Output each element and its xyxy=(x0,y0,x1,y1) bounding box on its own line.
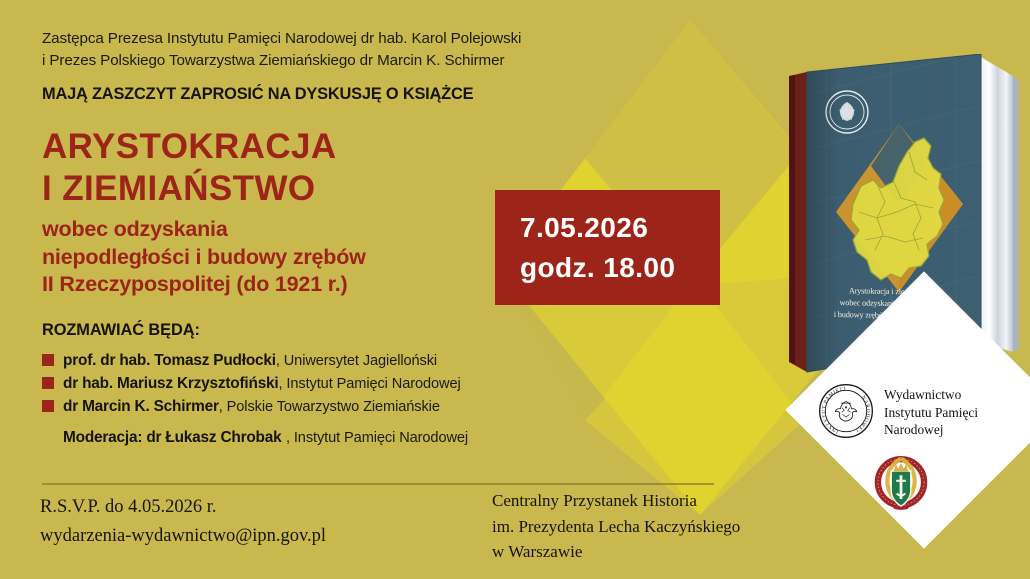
speaker-affiliation: , Instytut Pamięci Narodowej xyxy=(279,376,461,392)
svg-text:NARODOWEJ: NARODOWEJ xyxy=(854,395,871,433)
title-line-1: ARYSTOKRACJA xyxy=(42,126,682,168)
publisher-line-1: Wydawnictwo xyxy=(884,386,978,404)
venue-line-1: Centralny Przystanek Historia xyxy=(492,488,740,514)
eagle-emblem-icon xyxy=(835,401,856,421)
speakers-list: prof. dr hab. Tomasz Pudłocki , Uniwersy… xyxy=(42,352,682,447)
publisher-line-2: Instytutu Pamięci xyxy=(884,404,978,422)
moderator-row: Moderacja: dr Łukasz Chrobak , Instytut … xyxy=(63,429,682,447)
poster-canvas: Zastępca Prezesa Instytutu Pamięci Narod… xyxy=(0,0,1030,579)
date-time-badge: 7.05.2026 godz. 18.00 xyxy=(495,190,720,305)
publisher-logo-row: INSTYTUT PAMIĘCI NARODOWEJ Wydawnictwo I… xyxy=(818,383,978,439)
event-date: 7.05.2026 xyxy=(520,208,720,248)
rsvp-block: R.S.V.P. do 4.05.2026 r. wydarzenia-wyda… xyxy=(40,493,326,550)
rsvp-email[interactable]: wydarzenia-wydawnictwo@ipn.gov.pl xyxy=(40,522,326,551)
publisher-name: Wydawnictwo Instytutu Pamięci Narodowej xyxy=(884,383,978,439)
event-time: godz. 18.00 xyxy=(520,248,720,288)
ipn-seal-icon: INSTYTUT PAMIĘCI NARODOWEJ xyxy=(818,383,874,439)
footer-divider xyxy=(42,483,714,485)
bullet-square-icon xyxy=(42,354,54,366)
invitation-line: MAJĄ ZASZCZYT ZAPROSIĆ NA DYSKUSJĘ O KSI… xyxy=(42,85,682,104)
book-pages-edge xyxy=(1013,76,1019,352)
intro-line-2: i Prezes Polskiego Towarzystwa Ziemiańsk… xyxy=(42,50,682,72)
book-pages xyxy=(979,56,1013,352)
speaker-name: dr hab. Mariusz Krzysztofiński xyxy=(63,375,279,393)
speaker-affiliation: , Uniwersytet Jagielloński xyxy=(276,353,437,369)
rsvp-deadline: R.S.V.P. do 4.05.2026 r. xyxy=(40,493,326,522)
bullet-square-icon xyxy=(42,377,54,389)
speaker-affiliation: , Polskie Towarzystwo Ziemiańskie xyxy=(219,399,440,415)
polskie-towarzystwo-ziemianskie-logo-icon xyxy=(866,450,936,520)
book-spine-shadow xyxy=(789,75,795,364)
speaker-name: dr Marcin K. Schirmer xyxy=(63,398,219,416)
list-item: prof. dr hab. Tomasz Pudłocki , Uniwersy… xyxy=(42,352,682,370)
publisher-logo-panel: INSTYTUT PAMIĘCI NARODOWEJ Wydawnictwo I… xyxy=(782,358,1030,579)
speaker-name: prof. dr hab. Tomasz Pudłocki xyxy=(63,352,276,370)
list-item: dr Marcin K. Schirmer , Polskie Towarzys… xyxy=(42,398,682,416)
list-item: dr hab. Mariusz Krzysztofiński , Instytu… xyxy=(42,375,682,393)
intro-line-1: Zastępca Prezesa Instytutu Pamięci Narod… xyxy=(42,28,682,50)
venue-block: Centralny Przystanek Historia im. Prezyd… xyxy=(492,488,740,565)
venue-line-2: im. Prezydenta Lecha Kaczyńskiego xyxy=(492,514,740,540)
speakers-heading: ROZMAWIAĆ BĘDĄ: xyxy=(42,321,682,340)
moderator-name: Moderacja: dr Łukasz Chrobak xyxy=(63,429,281,446)
bullet-square-icon xyxy=(42,400,54,412)
publisher-line-3: Narodowej xyxy=(884,421,978,439)
moderator-affiliation: , Instytut Pamięci Narodowej xyxy=(286,430,468,446)
venue-line-3: w Warszawie xyxy=(492,539,740,565)
